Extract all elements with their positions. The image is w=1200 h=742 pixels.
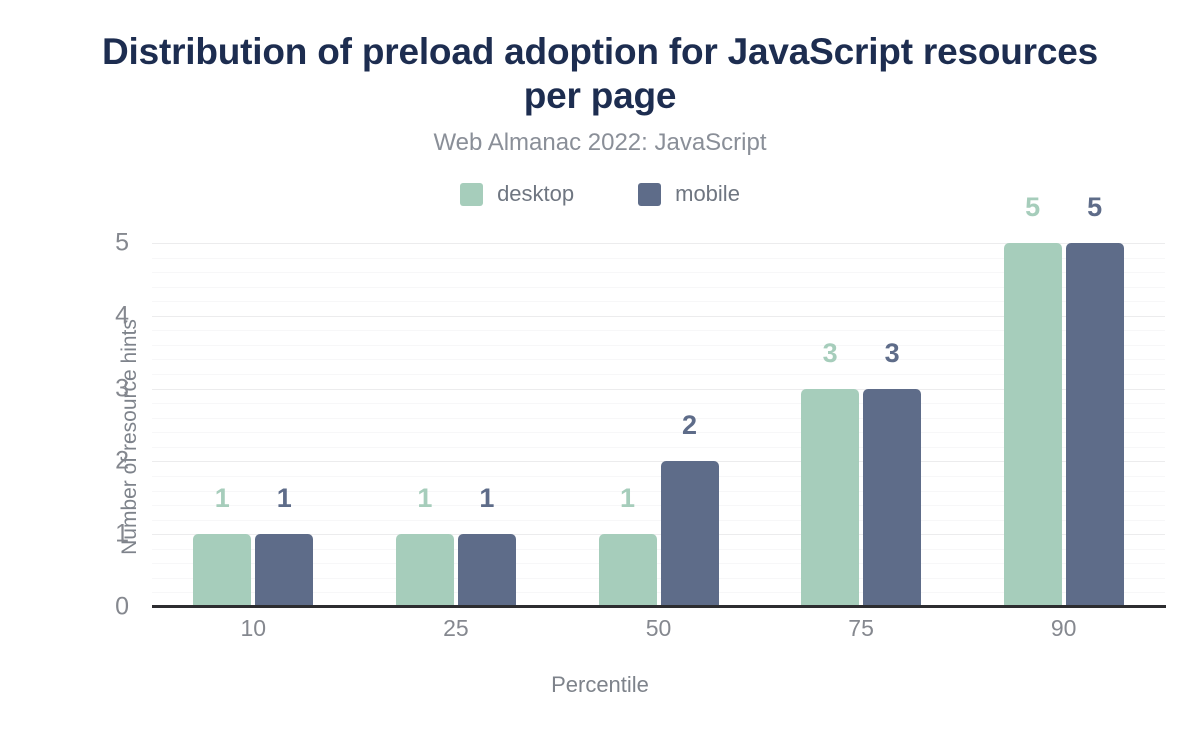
chart-container: Distribution of preload adoption for Jav…: [0, 0, 1200, 742]
x-axis-tick-25: 25: [376, 615, 536, 642]
bar-label-mobile-75: 3: [832, 338, 952, 369]
bar-desktop-75[interactable]: [801, 389, 859, 607]
legend-swatch-desktop: [460, 183, 483, 206]
bar-label-mobile-90: 5: [1035, 192, 1155, 223]
y-axis-tick-1: 1: [39, 520, 129, 549]
plot-area: Number of resource hints 012345 10255075…: [152, 243, 1165, 607]
x-axis-title: Percentile: [0, 672, 1200, 698]
legend-item-mobile[interactable]: mobile: [638, 181, 740, 207]
legend-swatch-mobile: [638, 183, 661, 206]
bar-mobile-75[interactable]: [863, 389, 921, 607]
bar-desktop-50[interactable]: [599, 534, 657, 607]
x-axis-tick-75: 75: [781, 615, 941, 642]
legend-label-desktop: desktop: [497, 181, 574, 207]
x-axis-line: [152, 605, 1166, 608]
y-axis-tick-3: 3: [39, 374, 129, 403]
bar-mobile-10[interactable]: [255, 534, 313, 607]
bar-desktop-90[interactable]: [1004, 243, 1062, 607]
bar-desktop-25[interactable]: [396, 534, 454, 607]
legend-label-mobile: mobile: [675, 181, 740, 207]
bar-mobile-25[interactable]: [458, 534, 516, 607]
x-axis-tick-10: 10: [173, 615, 333, 642]
y-axis-tick-4: 4: [39, 301, 129, 330]
bar-label-mobile-50: 2: [630, 410, 750, 441]
bar-mobile-90[interactable]: [1066, 243, 1124, 607]
bar-label-mobile-25: 1: [427, 483, 547, 514]
bar-label-mobile-10: 1: [224, 483, 344, 514]
chart-subtitle: Web Almanac 2022: JavaScript: [80, 129, 1120, 157]
y-axis-tick-0: 0: [39, 593, 129, 622]
chart-title: Distribution of preload adoption for Jav…: [80, 30, 1120, 117]
x-axis-tick-90: 90: [984, 615, 1144, 642]
bar-desktop-10[interactable]: [193, 534, 251, 607]
bar-label-desktop-50: 1: [568, 483, 688, 514]
x-axis-tick-50: 50: [579, 615, 739, 642]
legend-item-desktop[interactable]: desktop: [460, 181, 574, 207]
y-axis-tick-2: 2: [39, 447, 129, 476]
y-axis-tick-5: 5: [39, 229, 129, 258]
